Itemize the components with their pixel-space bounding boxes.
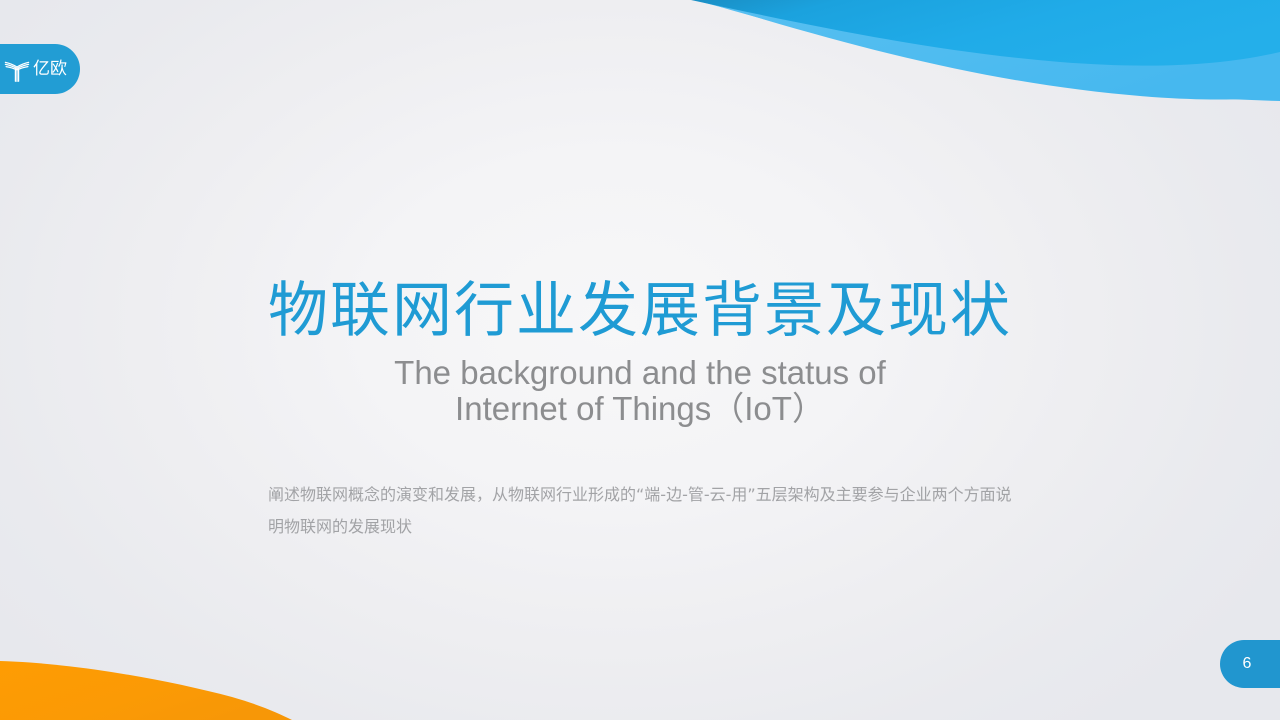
slide-body-text: 阐述物联网概念的演变和发展，从物联网行业形成的“端-边-管-云-用”五层架构及主… [268, 479, 1020, 543]
orange-wave-shape [0, 661, 292, 720]
blue-wave-light-main [700, 0, 1280, 100]
slide-title: 物联网行业发展背景及现状 [0, 274, 1280, 348]
slide-subtitle: The background and the status of Interne… [0, 355, 1280, 427]
presentation-slide: 亿欧 物联网行业发展背景及现状 The background and the s… [0, 0, 1280, 720]
brand-logo[interactable]: 亿欧 [0, 44, 80, 94]
blue-wave-light-sweep [716, 0, 1280, 101]
slide-subtitle-line-2: Internet of Things（IoT） [0, 391, 1280, 427]
slide-subtitle-line-1: The background and the status of [0, 355, 1280, 391]
blue-wave-dark-main [691, 0, 1280, 66]
page-number-value: 6 [1243, 655, 1252, 673]
brand-name: 亿欧 [33, 61, 67, 78]
blue-wave-light-lower [726, 0, 1280, 100]
page-number-badge: 6 [1220, 640, 1280, 688]
blue-wave-light-shape-2 [700, 0, 1280, 100]
blue-wave-light-shape [694, 0, 1280, 96]
tree-logo-icon [4, 55, 30, 83]
title-group: 物联网行业发展背景及现状 The background and the stat… [0, 274, 1280, 427]
